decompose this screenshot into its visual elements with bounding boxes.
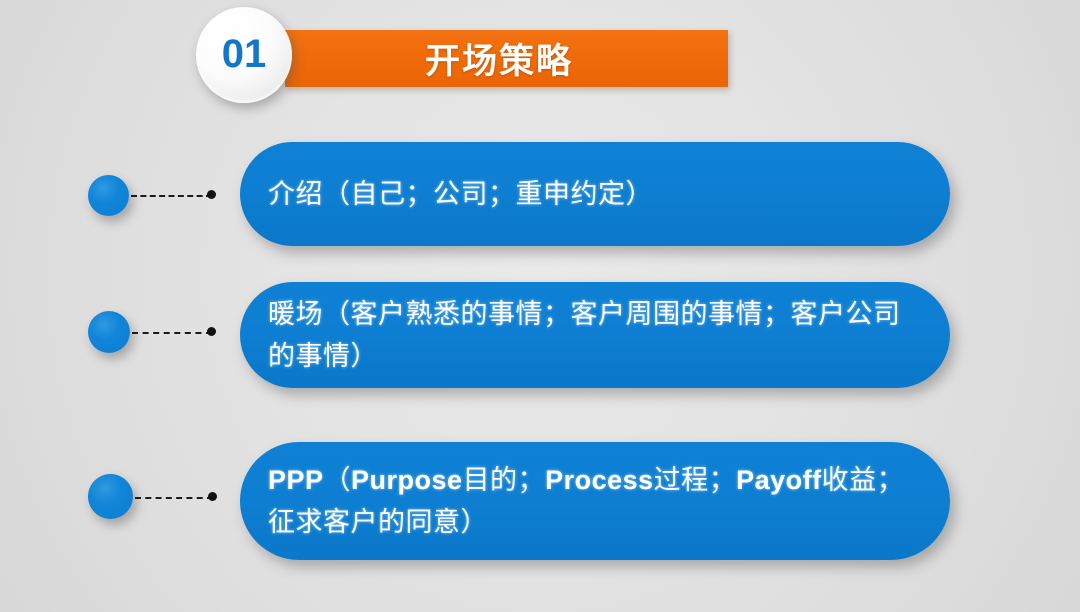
bullet-dot-3 xyxy=(88,474,133,519)
content-pill-3-text: PPP（Purpose目的；Process过程；Payoff收益；征求客户的同意… xyxy=(240,459,950,543)
connector-line-3 xyxy=(135,497,213,499)
bullet-dot-1 xyxy=(88,175,129,216)
content-pill-1[interactable]: 介绍（自己；公司；重申约定） xyxy=(240,142,950,246)
bullet-dot-2 xyxy=(88,311,130,353)
connector-line-2 xyxy=(132,332,212,334)
content-pill-2[interactable]: 暖场（客户熟悉的事情；客户周围的事情；客户公司的事情） xyxy=(240,282,950,388)
section-number-badge: 01 xyxy=(196,7,292,103)
content-pill-3[interactable]: PPP（Purpose目的；Process过程；Payoff收益；征求客户的同意… xyxy=(240,442,950,560)
content-pill-1-text: 介绍（自己；公司；重申约定） xyxy=(240,173,687,215)
connector-end-dot-3 xyxy=(208,492,217,501)
section-number-label: 01 xyxy=(222,34,267,76)
slide-canvas: 开场策略 01 介绍（自己；公司；重申约定） 暖场（客户熟悉的事情；客户周围的事… xyxy=(0,0,1080,612)
connector-end-dot-1 xyxy=(207,190,216,199)
connector-line-1 xyxy=(131,195,212,197)
page-title: 开场策略 xyxy=(425,30,625,87)
content-pill-2-text: 暖场（客户熟悉的事情；客户周围的事情；客户公司的事情） xyxy=(240,293,950,377)
connector-end-dot-2 xyxy=(207,327,216,336)
